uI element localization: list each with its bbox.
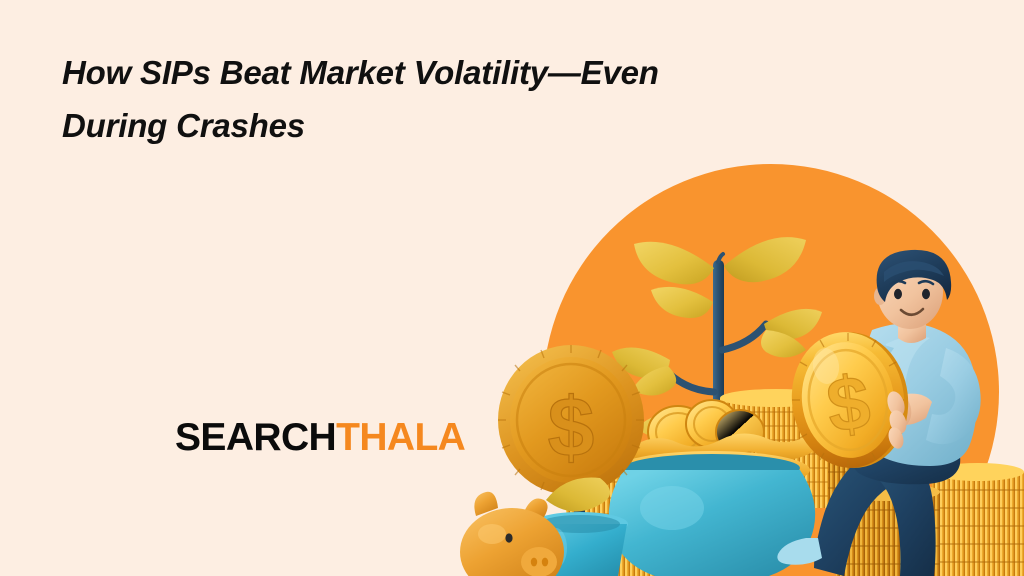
dollar-symbol: $ [548,380,595,474]
piggy-bank [460,492,564,576]
logo-text-search: SEARCH [175,416,336,459]
logo-text-thala: THALA [336,416,465,459]
brand-logo[interactable]: SEARCHTHALA [175,418,465,457]
page-title: How SIPs Beat Market Volatility—Even Dur… [62,46,852,153]
banner-canvas: $ [0,0,1024,576]
